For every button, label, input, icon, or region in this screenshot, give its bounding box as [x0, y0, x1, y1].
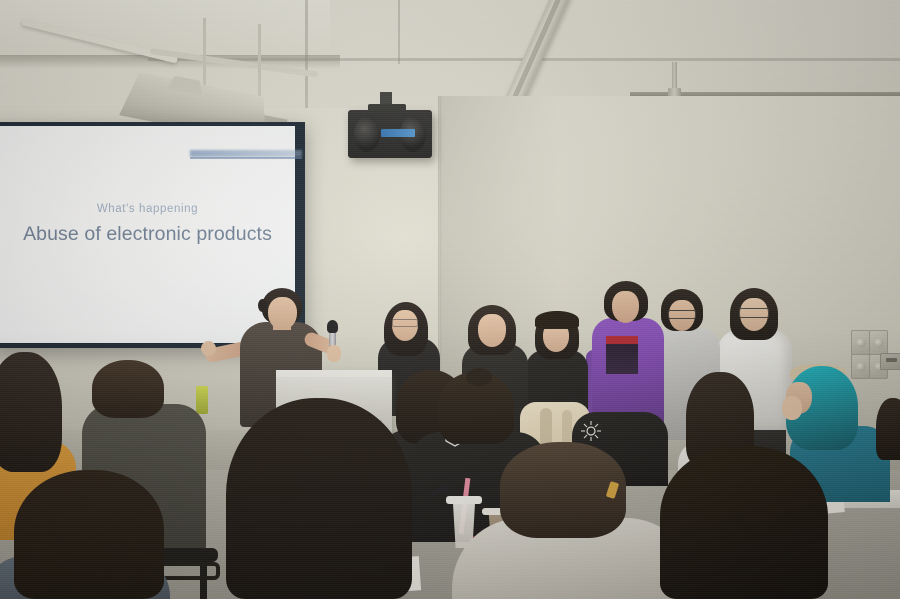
light-suspension-rod — [203, 18, 206, 90]
presenter-purple-tee-face — [612, 291, 639, 323]
classroom-presentation-photo: What's happening Abuse of electronic pro… — [0, 0, 900, 599]
speaker-brand-text — [381, 129, 415, 137]
audience-orange-shirt-hair — [0, 352, 62, 472]
glasses-icon — [668, 310, 696, 319]
speaker-driver-left — [354, 116, 380, 152]
audience-teal-hair-hand — [782, 396, 802, 420]
speaker-hair-tie — [258, 299, 267, 312]
glasses-icon — [739, 308, 769, 318]
ceiling-grid-line — [398, 0, 400, 64]
sun-logo-icon — [580, 420, 602, 442]
foreground-dark-head-right — [660, 446, 828, 599]
presenter-printed-tee-bangs — [535, 311, 579, 329]
green-bottle — [196, 386, 208, 414]
light-suspension-rod — [258, 24, 261, 96]
audience-right-edge-head — [876, 398, 900, 460]
speaker-face — [268, 297, 297, 330]
foreground-dark-head-center — [226, 398, 412, 599]
slide-header-underline — [190, 157, 302, 159]
audience-olive-shirt-hair — [92, 360, 164, 418]
drink-cup-lid — [446, 496, 482, 504]
slide-title: Abuse of electronic products — [0, 223, 295, 246]
audience-front-left-hair — [14, 470, 164, 599]
slide-subtitle: What's happening — [0, 203, 295, 215]
stool-leg — [200, 566, 207, 599]
slide-header-strip — [190, 150, 302, 157]
audience-hair-bun — [466, 368, 492, 386]
glasses-icon — [392, 319, 418, 327]
